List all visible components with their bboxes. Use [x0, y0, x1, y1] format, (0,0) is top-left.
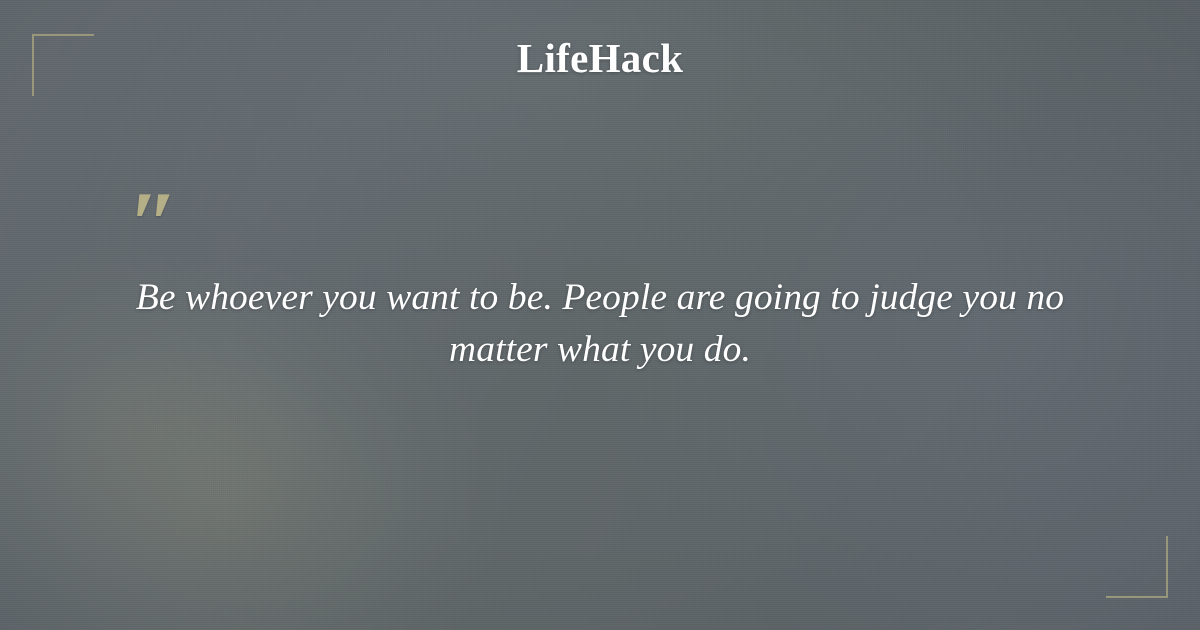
- quotation-mark-icon: ″: [128, 178, 177, 270]
- corner-bracket-bottom-right-icon: [1106, 536, 1168, 598]
- quote-card: LifeHack ″ Be whoever you want to be. Pe…: [0, 0, 1200, 630]
- quote-text: Be whoever you want to be. People are go…: [100, 272, 1100, 376]
- brand-logo: LifeHack: [0, 38, 1200, 79]
